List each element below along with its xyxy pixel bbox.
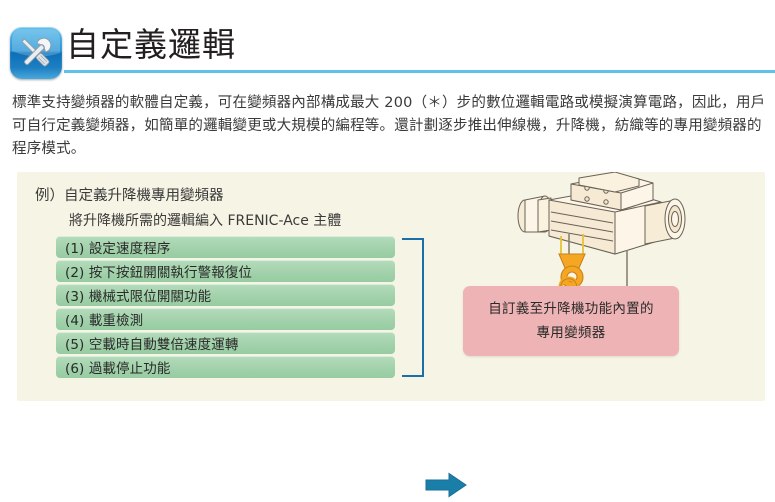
result-line-1: 自訂義至升降機功能內置的 — [488, 297, 654, 321]
result-callout-box: 自訂義至升降機功能內置的 專用變頻器 — [463, 286, 679, 356]
list-item: (5) 空載時自動雙倍速度運轉 — [56, 332, 395, 354]
page-header: 自定義邏輯 — [0, 0, 775, 82]
example-subheading: 將升降機所需的邏輯編入 FRENIC-Ace 主體 — [69, 211, 341, 231]
title-underline-rule — [64, 70, 775, 73]
tools-wrench-screwdriver-icon — [10, 27, 62, 79]
list-item: (3) 機械式限位開關功能 — [56, 284, 395, 306]
electric-hoist-illustration — [493, 172, 721, 296]
bracket-top-arm — [402, 238, 423, 240]
list-item: (1) 設定速度程序 — [56, 236, 395, 258]
right-arrow-icon — [425, 472, 467, 498]
example-heading: 例）自定義升降機專用變頻器 — [35, 186, 224, 206]
feature-list: (1) 設定速度程序 (2) 按下按鈕開關執行警報復位 (3) 機械式限位開關功… — [56, 236, 395, 380]
list-item: (6) 過載停止功能 — [56, 356, 395, 378]
intro-paragraph: 標準支持變頻器的軟體自定義，可在變頻器內部構成最大 200（＊）步的數位邏輯電路… — [12, 92, 768, 161]
grouping-bracket — [402, 238, 424, 377]
bracket-spine — [422, 238, 424, 377]
example-panel: 例）自定義升降機專用變頻器 將升降機所需的邏輯編入 FRENIC-Ace 主體 … — [17, 172, 765, 401]
result-line-2: 專用變頻器 — [537, 321, 606, 345]
list-item: (4) 載重檢測 — [56, 308, 395, 330]
page-title: 自定義邏輯 — [66, 22, 236, 68]
bracket-bottom-arm — [402, 375, 423, 377]
list-item: (2) 按下按鈕開關執行警報復位 — [56, 260, 395, 282]
